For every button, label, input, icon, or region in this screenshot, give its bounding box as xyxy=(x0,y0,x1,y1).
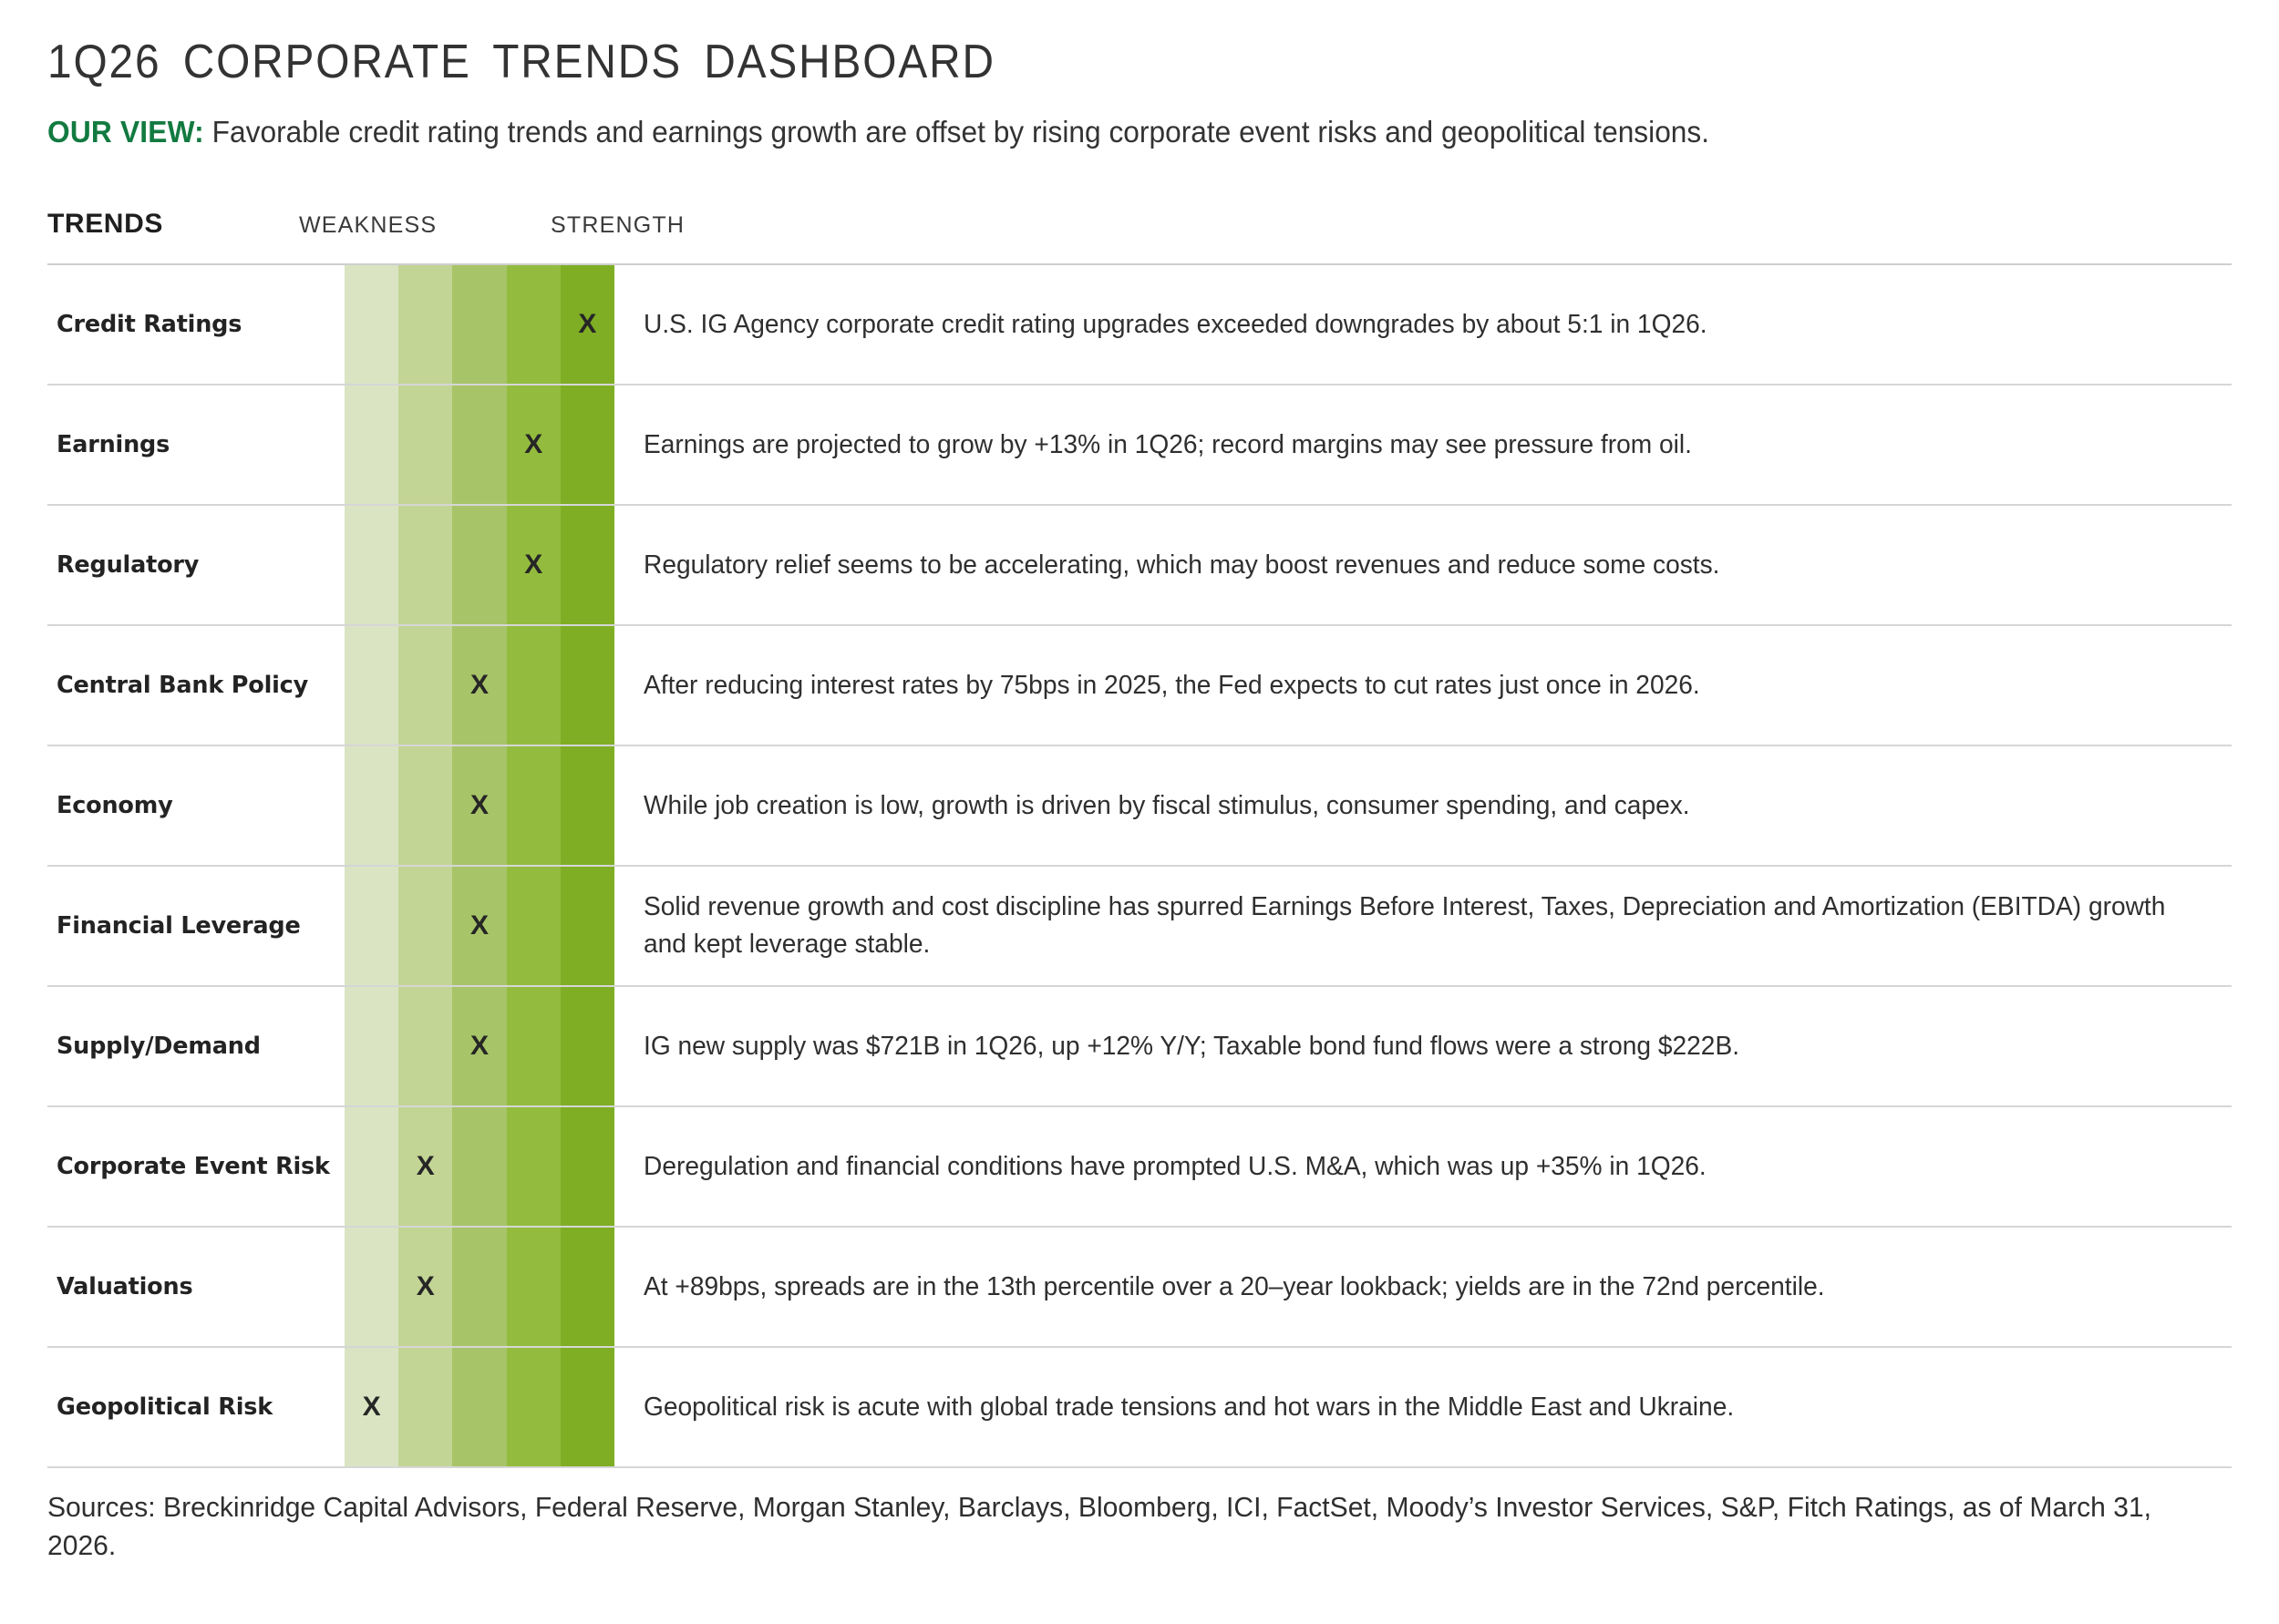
dashboard-page: 1Q26 CORPORATE TRENDS DASHBOARD OUR VIEW… xyxy=(0,0,2279,1624)
score-marker-x: X xyxy=(398,1153,452,1180)
scale-band-3: X xyxy=(452,746,506,865)
table-row: Credit RatingsXU.S. IG Agency corporate … xyxy=(47,265,2232,385)
table-row: Financial LeverageXSolid revenue growth … xyxy=(47,867,2232,987)
scale-band-1 xyxy=(345,867,398,985)
trend-label: Economy xyxy=(57,792,173,819)
scale-band-1 xyxy=(345,506,398,624)
trend-note: U.S. IG Agency corporate credit rating u… xyxy=(644,306,1707,344)
trend-scale-cell: X xyxy=(345,385,614,504)
trend-note-cell: After reducing interest rates by 75bps i… xyxy=(614,626,2232,745)
score-marker-x: X xyxy=(398,1273,452,1300)
trend-label-cell: Supply/Demand xyxy=(47,987,345,1105)
trend-label: Corporate Event Risk xyxy=(57,1153,330,1180)
score-marker-x: X xyxy=(452,912,506,940)
trend-note: Deregulation and financial conditions ha… xyxy=(644,1148,1707,1186)
our-view-text: Favorable credit rating trends and earni… xyxy=(212,115,1709,149)
scale-band-1: X xyxy=(345,1348,398,1466)
trend-label-cell: Geopolitical Risk xyxy=(47,1348,345,1466)
scale-band-4 xyxy=(507,987,561,1105)
page-title: 1Q26 CORPORATE TRENDS DASHBOARD xyxy=(47,0,2057,86)
scale-band-3: X xyxy=(452,867,506,985)
trends-table: Credit RatingsXU.S. IG Agency corporate … xyxy=(47,263,2232,1468)
trend-label: Credit Ratings xyxy=(57,311,242,338)
trend-note-cell: Deregulation and financial conditions ha… xyxy=(614,1107,2232,1226)
our-view-label: OUR VIEW: xyxy=(47,115,204,149)
score-marker-x: X xyxy=(452,1033,506,1060)
trend-note-cell: At +89bps, spreads are in the 13th perce… xyxy=(614,1228,2232,1346)
scale-band-4 xyxy=(507,1348,561,1466)
our-view-line: OUR VIEW: Favorable credit rating trends… xyxy=(47,86,2144,150)
trend-scale-cell: X xyxy=(345,506,614,624)
trend-label-cell: Corporate Event Risk xyxy=(47,1107,345,1226)
scale-band-1 xyxy=(345,1107,398,1226)
scale-band-2 xyxy=(398,1348,452,1466)
scale-band-2 xyxy=(398,385,452,504)
trend-note-cell: Regulatory relief seems to be accelerati… xyxy=(614,506,2232,624)
scale-band-3 xyxy=(452,1228,506,1346)
score-marker-x: X xyxy=(507,431,561,458)
trend-scale-cell: X xyxy=(345,1348,614,1466)
table-row: ValuationsXAt +89bps, spreads are in the… xyxy=(47,1228,2232,1348)
column-header-weakness: WEAKNESS xyxy=(299,212,437,239)
scale-band-4 xyxy=(507,1228,561,1346)
scale-band-4 xyxy=(507,626,561,745)
score-marker-x: X xyxy=(452,792,506,819)
trend-label: Central Bank Policy xyxy=(57,672,308,699)
scale-band-5 xyxy=(561,867,614,985)
scale-band-4 xyxy=(507,265,561,384)
trend-note: Earnings are projected to grow by +13% i… xyxy=(644,427,1692,464)
trend-label-cell: Earnings xyxy=(47,385,345,504)
scale-band-5 xyxy=(561,626,614,745)
scale-band-2 xyxy=(398,506,452,624)
trend-note: IG new supply was $721B in 1Q26, up +12%… xyxy=(644,1028,1739,1065)
score-marker-x: X xyxy=(561,311,614,338)
scale-band-1 xyxy=(345,987,398,1105)
trend-note: At +89bps, spreads are in the 13th perce… xyxy=(644,1269,1825,1306)
score-marker-x: X xyxy=(452,672,506,699)
trend-scale-cell: X xyxy=(345,1107,614,1226)
scale-band-3 xyxy=(452,265,506,384)
scale-band-5 xyxy=(561,1228,614,1346)
scale-band-1 xyxy=(345,385,398,504)
table-row: Geopolitical RiskXGeopolitical risk is a… xyxy=(47,1348,2232,1468)
scale-band-2 xyxy=(398,867,452,985)
scale-band-5 xyxy=(561,385,614,504)
trend-note-cell: While job creation is low, growth is dri… xyxy=(614,746,2232,865)
scale-band-4 xyxy=(507,1107,561,1226)
table-row: Central Bank PolicyXAfter reducing inter… xyxy=(47,626,2232,746)
scale-band-5: X xyxy=(561,265,614,384)
sources-note: Sources: Breckinridge Capital Advisors, … xyxy=(47,1468,2166,1564)
scale-band-3 xyxy=(452,385,506,504)
trend-note: Geopolitical risk is acute with global t… xyxy=(644,1389,1734,1426)
scale-band-3: X xyxy=(452,987,506,1105)
scale-band-4: X xyxy=(507,506,561,624)
score-marker-x: X xyxy=(507,551,561,579)
scale-band-1 xyxy=(345,626,398,745)
trend-scale-cell: X xyxy=(345,265,614,384)
scale-band-4: X xyxy=(507,385,561,504)
score-marker-x: X xyxy=(345,1393,398,1421)
trend-label-cell: Valuations xyxy=(47,1228,345,1346)
scale-band-2: X xyxy=(398,1107,452,1226)
trend-scale-cell: X xyxy=(345,746,614,865)
trend-scale-cell: X xyxy=(345,1228,614,1346)
trend-label: Regulatory xyxy=(57,551,199,579)
trend-note-cell: Earnings are projected to grow by +13% i… xyxy=(614,385,2232,504)
trend-label-cell: Regulatory xyxy=(47,506,345,624)
trend-scale-cell: X xyxy=(345,626,614,745)
trend-label: Geopolitical Risk xyxy=(57,1393,273,1421)
trend-label: Earnings xyxy=(57,431,170,458)
scale-band-3: X xyxy=(452,626,506,745)
table-row: EconomyXWhile job creation is low, growt… xyxy=(47,746,2232,867)
trend-note: Solid revenue growth and cost discipline… xyxy=(644,889,2166,963)
scale-band-3 xyxy=(452,1107,506,1226)
trend-note-cell: IG new supply was $721B in 1Q26, up +12%… xyxy=(614,987,2232,1105)
scale-band-2 xyxy=(398,626,452,745)
scale-band-2 xyxy=(398,746,452,865)
table-row: RegulatoryXRegulatory relief seems to be… xyxy=(47,506,2232,626)
trend-label-cell: Economy xyxy=(47,746,345,865)
scale-band-3 xyxy=(452,1348,506,1466)
table-row: Supply/DemandXIG new supply was $721B in… xyxy=(47,987,2232,1107)
scale-band-2 xyxy=(398,265,452,384)
scale-band-2: X xyxy=(398,1228,452,1346)
trend-label-cell: Credit Ratings xyxy=(47,265,345,384)
trend-scale-cell: X xyxy=(345,867,614,985)
trend-note: After reducing interest rates by 75bps i… xyxy=(644,667,1700,704)
scale-band-4 xyxy=(507,867,561,985)
table-row: EarningsXEarnings are projected to grow … xyxy=(47,385,2232,506)
trend-scale-cell: X xyxy=(345,987,614,1105)
column-header-row: TRENDS WEAKNESS STRENGTH xyxy=(47,192,2232,263)
trend-label: Valuations xyxy=(57,1273,192,1300)
column-header-strength: STRENGTH xyxy=(551,212,685,239)
scale-band-5 xyxy=(561,746,614,865)
trend-note-cell: U.S. IG Agency corporate credit rating u… xyxy=(614,265,2232,384)
scale-band-5 xyxy=(561,1107,614,1226)
scale-band-3 xyxy=(452,506,506,624)
scale-band-1 xyxy=(345,265,398,384)
scale-band-5 xyxy=(561,987,614,1105)
trend-note: Regulatory relief seems to be accelerati… xyxy=(644,547,1720,584)
trend-label: Financial Leverage xyxy=(57,912,301,940)
scale-band-2 xyxy=(398,987,452,1105)
trend-label-cell: Financial Leverage xyxy=(47,867,345,985)
scale-band-5 xyxy=(561,1348,614,1466)
trend-note-cell: Geopolitical risk is acute with global t… xyxy=(614,1348,2232,1466)
column-header-trends: TRENDS xyxy=(47,209,163,240)
trend-note-cell: Solid revenue growth and cost discipline… xyxy=(614,867,2232,985)
trend-note: While job creation is low, growth is dri… xyxy=(644,787,1690,825)
scale-band-4 xyxy=(507,746,561,865)
scale-band-1 xyxy=(345,746,398,865)
trend-label-cell: Central Bank Policy xyxy=(47,626,345,745)
trend-label: Supply/Demand xyxy=(57,1033,261,1060)
scale-band-1 xyxy=(345,1228,398,1346)
scale-band-5 xyxy=(561,506,614,624)
table-row: Corporate Event RiskXDeregulation and fi… xyxy=(47,1107,2232,1228)
